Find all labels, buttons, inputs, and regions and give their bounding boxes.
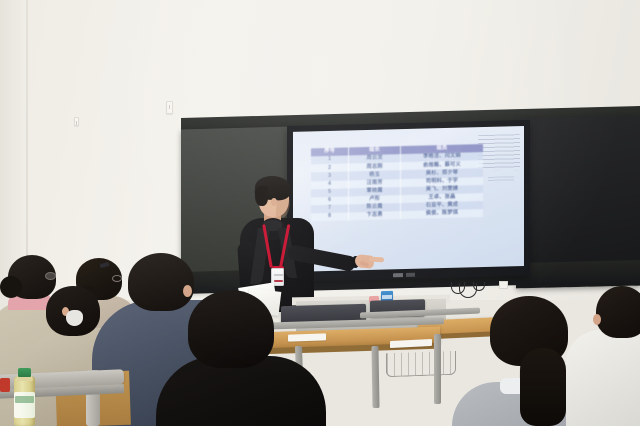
student-dark-hair-front-head xyxy=(188,290,274,368)
wall-left-panel xyxy=(0,0,27,300)
green-tea-bottle xyxy=(14,368,35,426)
desk-leg-3 xyxy=(434,334,441,404)
student-blue-jacket-ear xyxy=(183,285,192,297)
row-members: 侯俊、陈梦琪 xyxy=(400,209,483,219)
paper-on-desk-a xyxy=(288,333,326,341)
face-mask-icon xyxy=(66,310,83,326)
teacher-pointing-finger xyxy=(369,257,384,263)
teacher-hair-side xyxy=(255,186,268,206)
slide-side-note-text-2 xyxy=(488,176,514,183)
display-cables xyxy=(447,282,507,304)
classroom-photo-scene: 序号 组长 组员 1周云龙李皓洁、闫文娟2周志刚俞雨薇、蔡可义3杨玉吴杉、郑夕琴… xyxy=(0,0,640,426)
student-hair-bun xyxy=(0,276,22,298)
presenter-teacher xyxy=(226,172,376,312)
student-white-shirt-ear xyxy=(593,314,601,325)
student-glasses-back xyxy=(112,275,122,282)
student-white-shirt-head xyxy=(596,286,640,338)
desk-storage-basket xyxy=(386,351,456,377)
red-object xyxy=(0,378,10,392)
student-white-shirt-body xyxy=(566,330,640,426)
teacher-ear xyxy=(271,198,277,206)
wall-switch-icon[interactable] xyxy=(74,117,79,126)
student-glasses-bun xyxy=(45,272,56,280)
desk-leg-2 xyxy=(371,346,379,408)
student-blue-jacket-head xyxy=(128,253,194,311)
bottle-cap xyxy=(18,368,31,377)
student-ponytail-right-hair xyxy=(520,348,566,426)
slide-side-note-text xyxy=(478,134,520,171)
wall-plate xyxy=(499,281,508,289)
wall-outlet-icon[interactable] xyxy=(166,101,173,114)
display-brand-logo-icon xyxy=(393,273,425,278)
